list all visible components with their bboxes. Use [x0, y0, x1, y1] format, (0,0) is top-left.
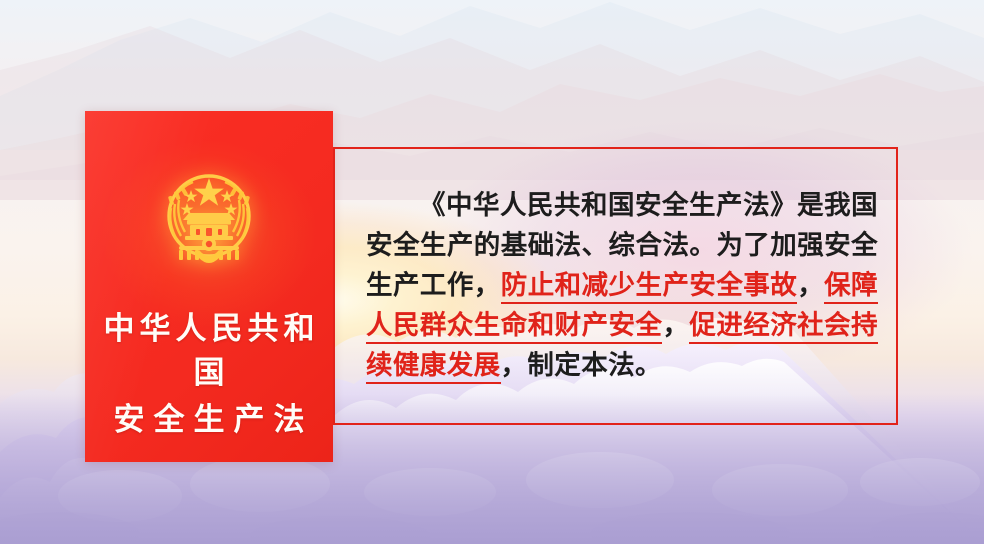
book-title: 中华人民共和国 安全生产法: [85, 307, 333, 442]
law-description-paragraph: 《中华人民共和国安全生产法》是我国安全生产的基础法、综合法。为了加强安全生产工作…: [366, 186, 878, 386]
paragraph-segment-4: ，: [662, 310, 689, 341]
slide-canvas: 中华人民共和国 安全生产法 中国法制出版社 《中华人民共和国安全生产法》是我国安…: [0, 0, 984, 544]
paragraph-segment-2: ，: [797, 270, 824, 301]
china-national-emblem-icon: [149, 158, 269, 278]
paragraph-highlight-1: 防止和减少生产安全事故: [501, 270, 797, 304]
book-title-line-2: 安全生产法: [85, 398, 333, 442]
book-title-line-1: 中华人民共和国: [85, 307, 333, 395]
book-cover: 中华人民共和国 安全生产法 中国法制出版社: [85, 111, 333, 462]
paragraph-segment-6: ，制定本法。: [501, 350, 662, 381]
